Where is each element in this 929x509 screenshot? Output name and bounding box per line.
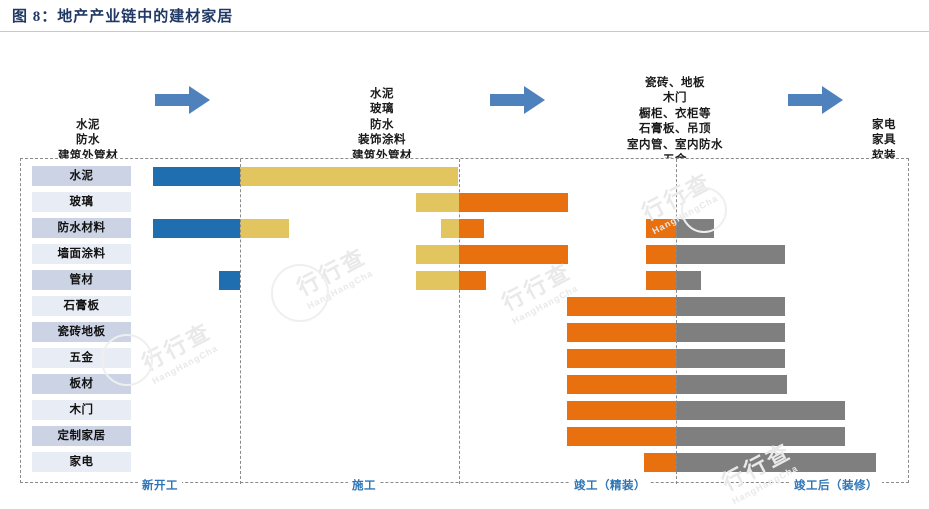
axis-caption-construction: 施工 <box>348 477 380 493</box>
chart-row-9: 板材 <box>21 371 910 397</box>
gridline-2 <box>676 159 677 484</box>
bar-segment-玻璃-竣工（精装） <box>459 193 568 212</box>
title-divider <box>0 31 929 32</box>
chart-row-12: 家电 <box>21 449 910 475</box>
stage-construction-line-3: 装饰涂料 <box>262 133 502 149</box>
bar-segment-瓷砖地板-竣工（精装） <box>567 323 676 342</box>
bar-segment-防水材料-竣工（精装） <box>459 219 484 238</box>
chart-row-2: 玻璃 <box>21 189 910 215</box>
stage-completion-line-2: 橱柜、衣柜等 <box>555 107 795 123</box>
figure-root: 图 8：地产产业链中的建材家居 水泥防水建筑外管材水泥玻璃防水装饰涂料建筑外管材… <box>0 0 929 509</box>
row-label-瓷砖地板: 瓷砖地板 <box>32 322 131 342</box>
chart-plot-area: 水泥玻璃防水材料墙面涂料管材石膏板瓷砖地板五金板材木门定制家居家电 行行查Han… <box>20 158 909 483</box>
bar-segment-木门-竣工后（装修） <box>676 401 845 420</box>
bar-segment-板材-竣工（精装） <box>567 375 676 394</box>
chart-row-3: 防水材料 <box>21 215 910 241</box>
chart-rows: 水泥玻璃防水材料墙面涂料管材石膏板瓷砖地板五金板材木门定制家居家电 <box>21 159 910 484</box>
stage-completion-line-3: 石膏板、吊顶 <box>555 122 795 138</box>
axis-caption-new-start: 新开工 <box>138 477 182 493</box>
chart-row-7: 瓷砖地板 <box>21 319 910 345</box>
bar-segment-墙面涂料-竣工后（装修） <box>676 245 785 264</box>
bar-segment-板材-竣工后（装修） <box>676 375 787 394</box>
bar-segment-石膏板-竣工（精装） <box>567 297 676 316</box>
bar-segment-家电-竣工（精装） <box>644 453 676 472</box>
value-chain-flow: 水泥防水建筑外管材水泥玻璃防水装饰涂料建筑外管材瓷砖、地板木门橱柜、衣柜等石膏板… <box>0 34 929 156</box>
stage-new-start-line-1: 防水 <box>0 133 208 149</box>
bar-segment-玻璃-施工 <box>416 193 459 212</box>
gridline-1 <box>459 159 460 484</box>
row-label-防水材料: 防水材料 <box>32 218 131 238</box>
bar-segment-防水材料-新开工 <box>153 219 240 238</box>
bar-segment-墙面涂料-竣工（精装） <box>646 245 676 264</box>
chart-row-4: 墙面涂料 <box>21 241 910 267</box>
chart-row-1: 水泥 <box>21 163 910 189</box>
row-label-家电: 家电 <box>32 452 131 472</box>
gridline-0 <box>240 159 241 484</box>
bar-segment-防水材料-施工 <box>441 219 459 238</box>
arrow-2-icon <box>490 84 546 121</box>
row-label-石膏板: 石膏板 <box>32 296 131 316</box>
bar-segment-管材-新开工 <box>219 271 240 290</box>
row-label-木门: 木门 <box>32 400 131 420</box>
row-label-墙面涂料: 墙面涂料 <box>32 244 131 264</box>
bar-segment-管材-竣工（精装） <box>646 271 676 290</box>
row-label-水泥: 水泥 <box>32 166 131 186</box>
stage-completion-line-4: 室内管、室内防水 <box>555 138 795 154</box>
bar-segment-五金-竣工后（装修） <box>676 349 785 368</box>
row-label-五金: 五金 <box>32 348 131 368</box>
bar-segment-水泥-新开工 <box>153 167 240 186</box>
stage-post-line-1: 家具 <box>764 133 929 149</box>
bar-segment-定制家居-竣工后（装修） <box>676 427 845 446</box>
bar-segment-定制家居-竣工（精装） <box>567 427 676 446</box>
stage-construction-line-2: 防水 <box>262 118 502 134</box>
bar-segment-防水材料-竣工（精装） <box>646 219 676 238</box>
bar-segment-管材-竣工（精装） <box>459 271 486 290</box>
stage-construction: 水泥玻璃防水装饰涂料建筑外管材 <box>262 87 502 165</box>
bar-segment-石膏板-竣工后（装修） <box>676 297 785 316</box>
bar-segment-墙面涂料-施工 <box>416 245 459 264</box>
bar-segment-墙面涂料-竣工（精装） <box>459 245 568 264</box>
axis-caption-completion: 竣工（精装） <box>570 477 650 493</box>
chart-row-5: 管材 <box>21 267 910 293</box>
bar-segment-家电-竣工后（装修） <box>676 453 876 472</box>
bar-segment-防水材料-竣工后（装修） <box>676 219 714 238</box>
stage-completion-line-1: 木门 <box>555 91 795 107</box>
stage-completion-line-0: 瓷砖、地板 <box>555 76 795 92</box>
row-label-玻璃: 玻璃 <box>32 192 131 212</box>
row-label-管材: 管材 <box>32 270 131 290</box>
bar-segment-木门-竣工（精装） <box>567 401 676 420</box>
chart-row-10: 木门 <box>21 397 910 423</box>
row-label-定制家居: 定制家居 <box>32 426 131 446</box>
figure-title-bar: 图 8：地产产业链中的建材家居 <box>0 0 929 31</box>
arrow-1-icon <box>155 84 211 121</box>
chart-row-8: 五金 <box>21 345 910 371</box>
chart-row-11: 定制家居 <box>21 423 910 449</box>
bar-segment-瓷砖地板-竣工后（装修） <box>676 323 785 342</box>
stage-construction-line-0: 水泥 <box>262 87 502 103</box>
row-label-板材: 板材 <box>32 374 131 394</box>
bar-segment-防水材料-施工 <box>240 219 289 238</box>
bar-segment-水泥-施工 <box>240 167 458 186</box>
stage-construction-line-1: 玻璃 <box>262 102 502 118</box>
page-title: 图 8：地产产业链中的建材家居 <box>0 5 233 26</box>
arrow-3-icon <box>788 84 844 121</box>
axis-caption-post-completion: 竣工后（装修） <box>790 477 882 493</box>
bar-segment-管材-施工 <box>416 271 459 290</box>
bar-segment-五金-竣工（精装） <box>567 349 676 368</box>
bar-segment-管材-竣工后（装修） <box>676 271 701 290</box>
chart-row-6: 石膏板 <box>21 293 910 319</box>
